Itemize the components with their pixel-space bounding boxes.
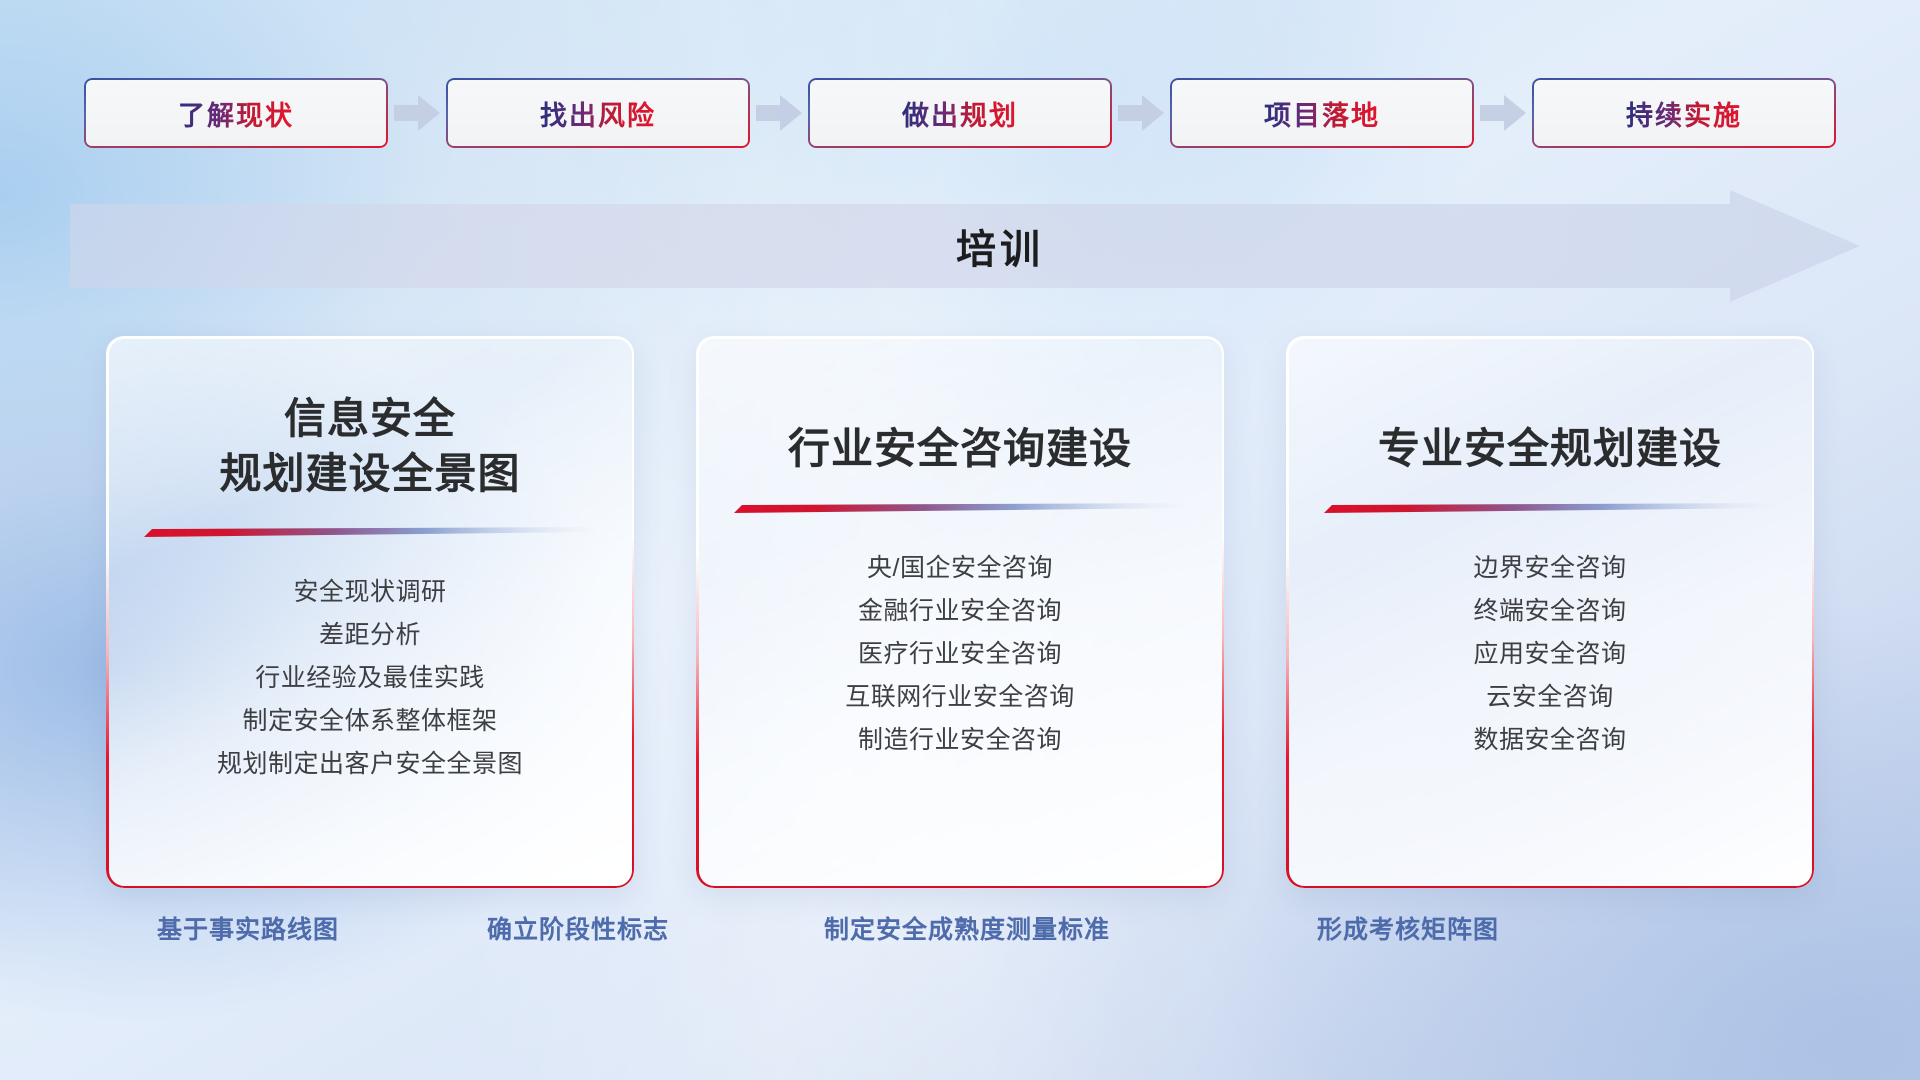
card-item-list: 安全现状调研差距分析行业经验及最佳实践制定安全体系整体框架规划制定出客户安全全景… <box>136 571 604 786</box>
arrow-right-icon <box>1480 95 1526 131</box>
list-item: 终端安全咨询 <box>1316 590 1784 633</box>
list-item: 金融行业安全咨询 <box>726 590 1194 633</box>
list-item: 医疗行业安全咨询 <box>726 633 1194 676</box>
list-item: 安全现状调研 <box>136 571 604 614</box>
gradient-rule-icon <box>144 527 596 539</box>
card-divider <box>1324 503 1776 515</box>
list-item: 云安全咨询 <box>1316 676 1784 719</box>
step-box-5[interactable]: 持续实施 <box>1532 78 1836 148</box>
card-inner: 行业安全咨询建设央/国企安全咨询金融行业安全咨询医疗行业安全咨询互联网行业安全咨… <box>696 336 1224 888</box>
card-item-list: 边界安全咨询终端安全咨询应用安全咨询云安全咨询数据安全咨询 <box>1316 547 1784 762</box>
card-title: 信息安全 规划建设全景图 <box>219 392 520 501</box>
card-title: 专业安全规划建设 <box>1378 422 1722 477</box>
footer-label-3: 制定安全成熟度测量标准 <box>824 910 1110 946</box>
slide-canvas: 了解现状找出风险做出规划项目落地持续实施 培训 信息安全 规划建设全景图安全现状… <box>0 0 1920 1080</box>
arrow-right-icon <box>756 95 802 131</box>
process-step-row: 了解现状找出风险做出规划项目落地持续实施 <box>0 78 1920 148</box>
list-item: 差距分析 <box>136 614 604 657</box>
step-arrow-1 <box>388 91 446 135</box>
footer-label-1: 基于事实路线图 <box>157 910 339 946</box>
banner-label: 培训 <box>70 190 1920 302</box>
arrow-right-icon <box>1118 95 1164 131</box>
card-1[interactable]: 信息安全 规划建设全景图安全现状调研差距分析行业经验及最佳实践制定安全体系整体框… <box>106 336 634 888</box>
footer-label-4: 形成考核矩阵图 <box>1317 910 1499 946</box>
step-box-1[interactable]: 了解现状 <box>84 78 388 148</box>
step-label: 项目落地 <box>1264 94 1380 133</box>
step-box-4[interactable]: 项目落地 <box>1170 78 1474 148</box>
arrow-right-icon <box>394 95 440 131</box>
card-title: 行业安全咨询建设 <box>788 422 1132 477</box>
card-divider <box>734 503 1186 515</box>
card-divider <box>144 527 596 539</box>
list-item: 互联网行业安全咨询 <box>726 676 1194 719</box>
list-item: 规划制定出客户安全全景图 <box>136 743 604 786</box>
card-inner: 专业安全规划建设边界安全咨询终端安全咨询应用安全咨询云安全咨询数据安全咨询 <box>1286 336 1814 888</box>
training-banner: 培训 <box>70 190 1860 302</box>
list-item: 应用安全咨询 <box>1316 633 1784 676</box>
list-item: 边界安全咨询 <box>1316 547 1784 590</box>
card-3[interactable]: 专业安全规划建设边界安全咨询终端安全咨询应用安全咨询云安全咨询数据安全咨询 <box>1286 336 1814 888</box>
step-label: 了解现状 <box>178 94 294 133</box>
footer-label-2: 确立阶段性标志 <box>487 910 669 946</box>
card-inner: 信息安全 规划建设全景图安全现状调研差距分析行业经验及最佳实践制定安全体系整体框… <box>106 336 634 888</box>
gradient-rule-icon <box>1324 503 1776 515</box>
step-box-3[interactable]: 做出规划 <box>808 78 1112 148</box>
step-label: 找出风险 <box>540 94 656 133</box>
list-item: 行业经验及最佳实践 <box>136 657 604 700</box>
step-box-2[interactable]: 找出风险 <box>446 78 750 148</box>
list-item: 央/国企安全咨询 <box>726 547 1194 590</box>
step-label: 做出规划 <box>902 94 1018 133</box>
step-arrow-4 <box>1474 91 1532 135</box>
step-label: 持续实施 <box>1626 94 1742 133</box>
card-group: 信息安全 规划建设全景图安全现状调研差距分析行业经验及最佳实践制定安全体系整体框… <box>0 336 1920 888</box>
card-2[interactable]: 行业安全咨询建设央/国企安全咨询金融行业安全咨询医疗行业安全咨询互联网行业安全咨… <box>696 336 1224 888</box>
step-arrow-2 <box>750 91 808 135</box>
gradient-rule-icon <box>734 503 1186 515</box>
list-item: 数据安全咨询 <box>1316 719 1784 762</box>
list-item: 制定安全体系整体框架 <box>136 700 604 743</box>
step-arrow-3 <box>1112 91 1170 135</box>
list-item: 制造行业安全咨询 <box>726 719 1194 762</box>
footer-label-group: 基于事实路线图确立阶段性标志制定安全成熟度测量标准形成考核矩阵图 <box>0 910 1920 956</box>
card-item-list: 央/国企安全咨询金融行业安全咨询医疗行业安全咨询互联网行业安全咨询制造行业安全咨… <box>726 547 1194 762</box>
